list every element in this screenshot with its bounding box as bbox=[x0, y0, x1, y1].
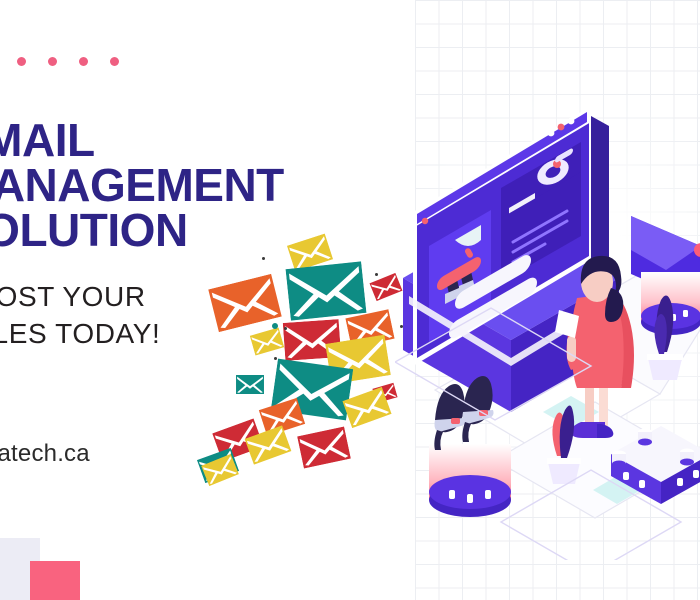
envelope-teal-1 bbox=[285, 261, 366, 321]
pink-square bbox=[30, 561, 80, 600]
envelope-teal-3 bbox=[236, 375, 264, 394]
dot bbox=[79, 57, 88, 66]
dot bbox=[110, 57, 119, 66]
speck-dark-3 bbox=[375, 273, 378, 276]
banner-canvas: EMAIL MANAGEMENT SOLUTION BOOST YOUR SAL… bbox=[0, 0, 700, 600]
envelope-orange-1 bbox=[208, 274, 283, 333]
dot bbox=[17, 57, 26, 66]
page-title: EMAIL MANAGEMENT SOLUTION bbox=[0, 118, 384, 253]
envelope-yellow-2 bbox=[250, 327, 285, 355]
headline-line-2: MANAGEMENT bbox=[0, 163, 384, 208]
speck-dark-5 bbox=[274, 357, 277, 360]
dot bbox=[48, 57, 57, 66]
envelope-red-3 bbox=[297, 426, 351, 468]
speck-teal bbox=[272, 323, 278, 329]
isometric-illustration bbox=[395, 60, 700, 560]
website-url[interactable]: shivatech.ca bbox=[0, 440, 90, 468]
headline-line-1: EMAIL bbox=[0, 118, 384, 163]
speck-dark-1 bbox=[262, 257, 265, 260]
speck-dark-2 bbox=[284, 327, 287, 330]
illustration-svg bbox=[395, 60, 700, 560]
decorative-dots bbox=[0, 57, 119, 66]
